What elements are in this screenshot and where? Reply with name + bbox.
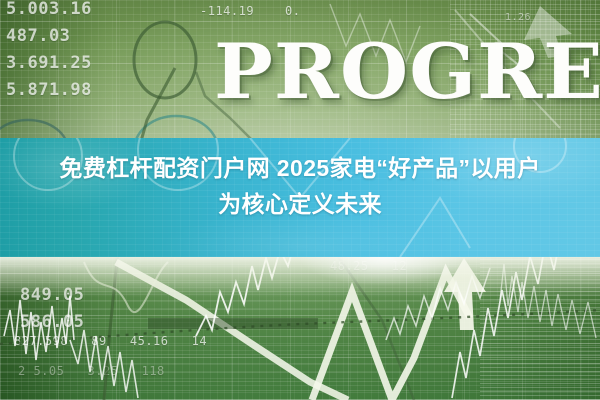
headline-line-2: 为核心定义未来 xyxy=(0,186,600,222)
band-bottom-glow xyxy=(270,257,500,317)
dark-smudge xyxy=(148,318,318,329)
headline-line-1: 免费杠杆配资门户网 2025家电“好产品”以用户 xyxy=(0,150,600,186)
series-volatile-left xyxy=(4,296,74,360)
banner-image: 5.003.16 487.03 3.691.25 5.871.98 -114.1… xyxy=(0,0,600,400)
watermark-progress: PROGRESS xyxy=(214,34,597,110)
headline: 免费杠杆配资门户网 2025家电“好产品”以用户 为核心定义未来 xyxy=(0,150,600,222)
